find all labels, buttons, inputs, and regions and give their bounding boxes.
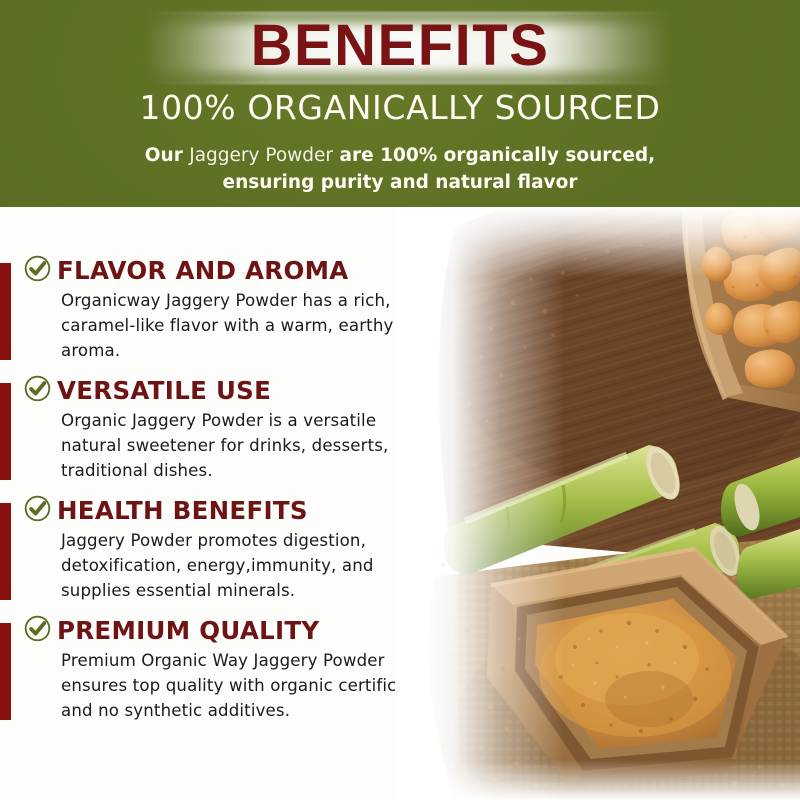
tagline-product-name: Jaggery Powder bbox=[189, 145, 333, 166]
accent-bar bbox=[0, 383, 11, 480]
check-circle-icon bbox=[24, 495, 51, 522]
header-banner: BENEFITS 100% ORGANICALLY SOURCED Our Ja… bbox=[0, 0, 800, 207]
product-photo bbox=[395, 207, 800, 800]
page-title: BENEFITS bbox=[0, 14, 800, 78]
accent-bar bbox=[0, 263, 11, 360]
benefits-list: FLAVOR AND AROMA Organicway Jaggery Powd… bbox=[0, 207, 445, 800]
benefit-heading: VERSATILE USE bbox=[57, 377, 271, 404]
check-circle-icon bbox=[24, 615, 51, 642]
benefit-body: Organic Jaggery Powder is a versatile na… bbox=[61, 408, 441, 483]
benefit-heading: FLAVOR AND AROMA bbox=[57, 257, 349, 284]
tagline-suffix: are 100% organically sourced, bbox=[333, 145, 655, 166]
tagline-line-2: ensuring purity and natural flavor bbox=[0, 169, 800, 196]
check-circle-icon bbox=[24, 255, 51, 282]
check-circle-icon bbox=[24, 375, 51, 402]
accent-bar bbox=[0, 623, 11, 720]
jaggery-product-illustration bbox=[395, 207, 800, 800]
benefit-body: Premium Organic Way Jaggery Powder ensur… bbox=[61, 648, 441, 723]
benefit-body: Organicway Jaggery Powder has a rich, ca… bbox=[61, 288, 441, 363]
header-tagline: Our Jaggery Powder are 100% organically … bbox=[0, 142, 800, 196]
benefit-body: Jaggery Powder promotes digestion, detox… bbox=[61, 528, 441, 603]
benefit-heading: PREMIUM QUALITY bbox=[57, 617, 319, 644]
benefit-heading: HEALTH BENEFITS bbox=[57, 497, 308, 524]
tagline-prefix: Our bbox=[145, 145, 189, 166]
benefits-infographic: BENEFITS 100% ORGANICALLY SOURCED Our Ja… bbox=[0, 0, 800, 800]
page-subtitle: 100% ORGANICALLY SOURCED bbox=[0, 88, 800, 128]
accent-bar bbox=[0, 503, 11, 600]
tagline-line-1: Our Jaggery Powder are 100% organically … bbox=[0, 142, 800, 169]
